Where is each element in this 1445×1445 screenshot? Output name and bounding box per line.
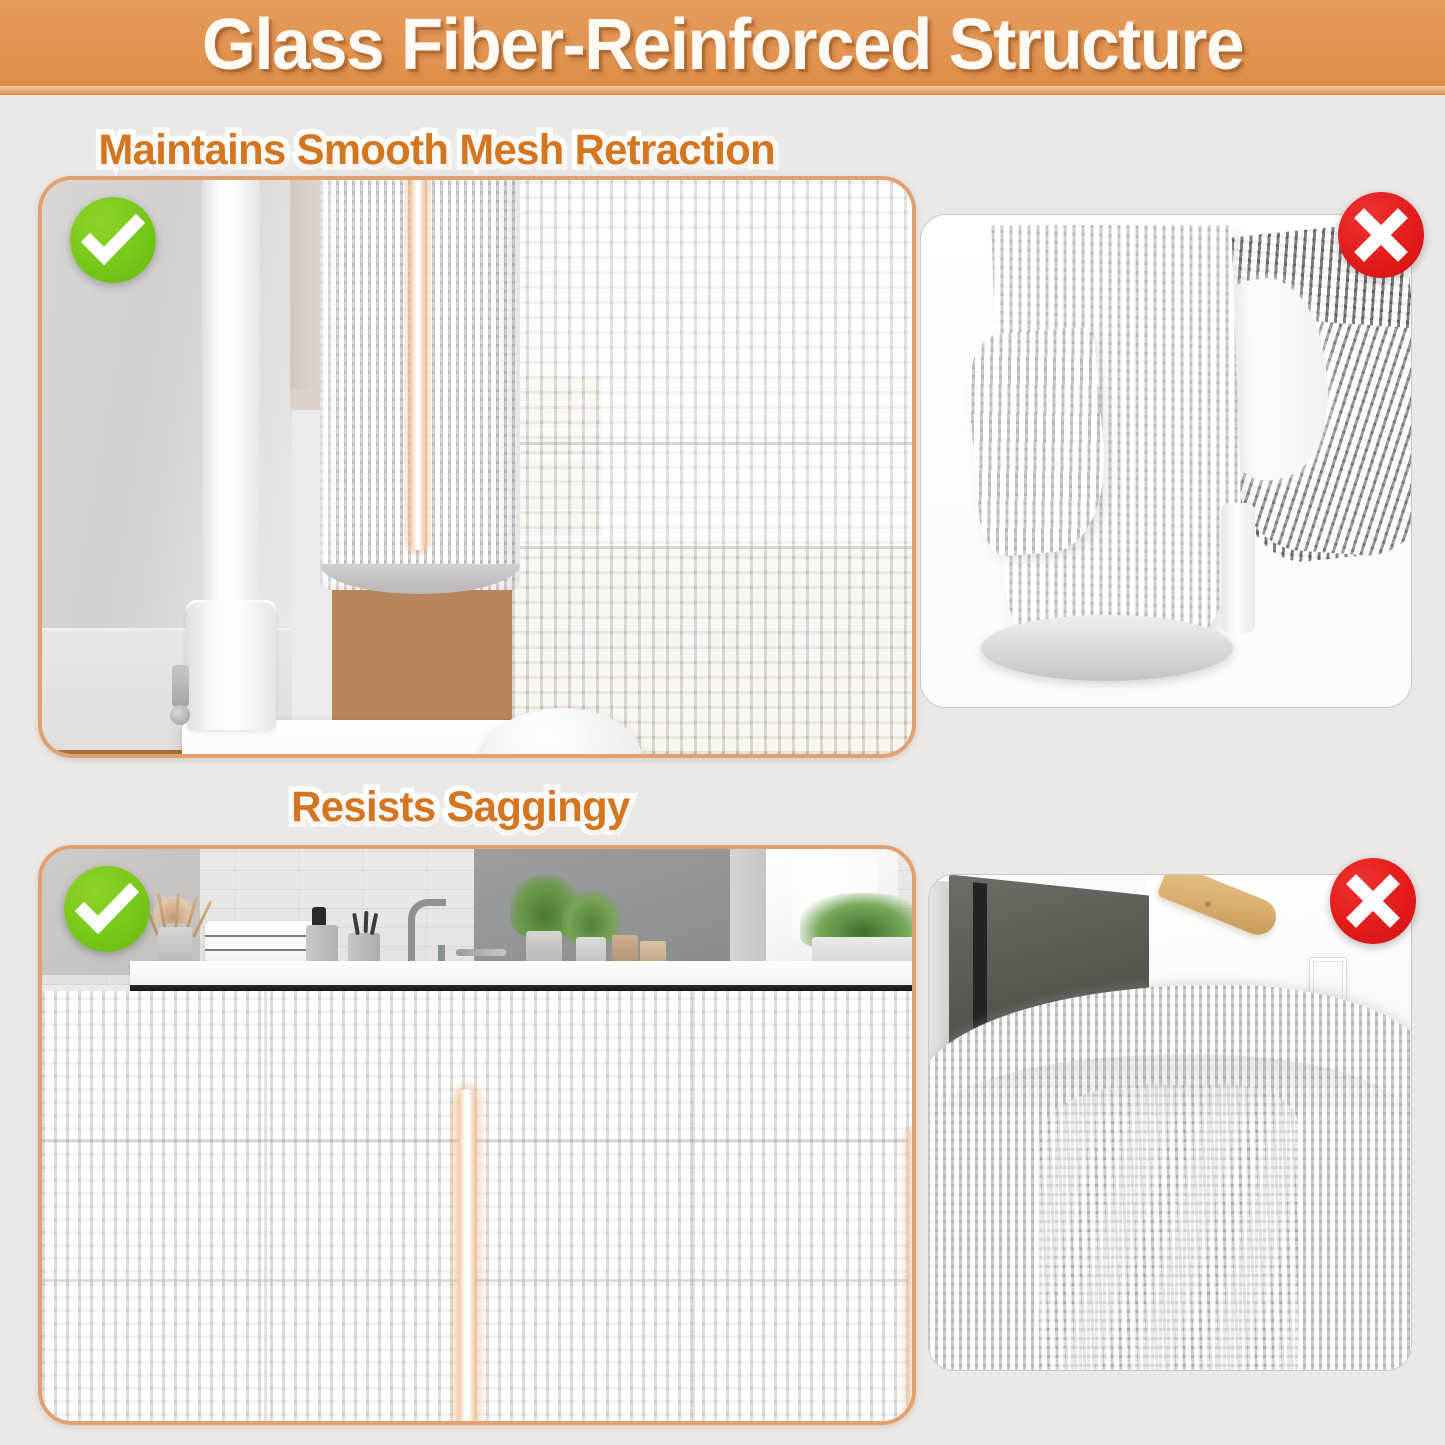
cross-icon xyxy=(1330,858,1416,944)
mesh-gate-flat xyxy=(42,991,916,1425)
post-collar xyxy=(186,602,276,730)
faucet-handle xyxy=(456,949,506,956)
check-icon xyxy=(70,197,156,283)
check-icon xyxy=(64,866,150,952)
soap-dispenser xyxy=(306,925,338,965)
gate-post xyxy=(202,180,260,620)
cross-icon xyxy=(1338,192,1424,278)
header-shine xyxy=(0,86,1445,95)
section-1-subtitle: Maintains Smooth Mesh Retraction xyxy=(98,126,775,175)
countertop xyxy=(130,961,916,987)
gate-base-oval xyxy=(981,615,1233,681)
section-2-subtitle: Resists Saggingy xyxy=(291,783,629,832)
page-title: Glass Fiber-Reinforced Structure xyxy=(29,4,1416,86)
soap-dispenser-pump xyxy=(312,907,326,927)
sagging-mesh-fold xyxy=(1039,1085,1299,1371)
section-2-bad-photo xyxy=(928,874,1412,1371)
folded-towels xyxy=(205,921,317,963)
mesh-reinforcement-rod xyxy=(458,1089,476,1425)
infographic-page: Glass Fiber-Reinforced Structure Maintai… xyxy=(0,0,1445,1445)
mesh-curtain xyxy=(512,176,916,754)
section-1-bad-photo xyxy=(920,214,1412,708)
mesh-edge-rod xyxy=(908,1129,916,1425)
section-2-good-photo xyxy=(38,845,916,1425)
header-band: Glass Fiber-Reinforced Structure xyxy=(0,0,1445,95)
gate-post-white xyxy=(1221,503,1255,633)
mount-screw-head xyxy=(170,705,190,725)
reinforcement-rod xyxy=(410,176,426,550)
handrail-screw xyxy=(1205,901,1211,907)
mount-screw xyxy=(172,665,189,707)
section-1-good-photo xyxy=(38,176,916,758)
diffuser-vase xyxy=(158,927,192,965)
